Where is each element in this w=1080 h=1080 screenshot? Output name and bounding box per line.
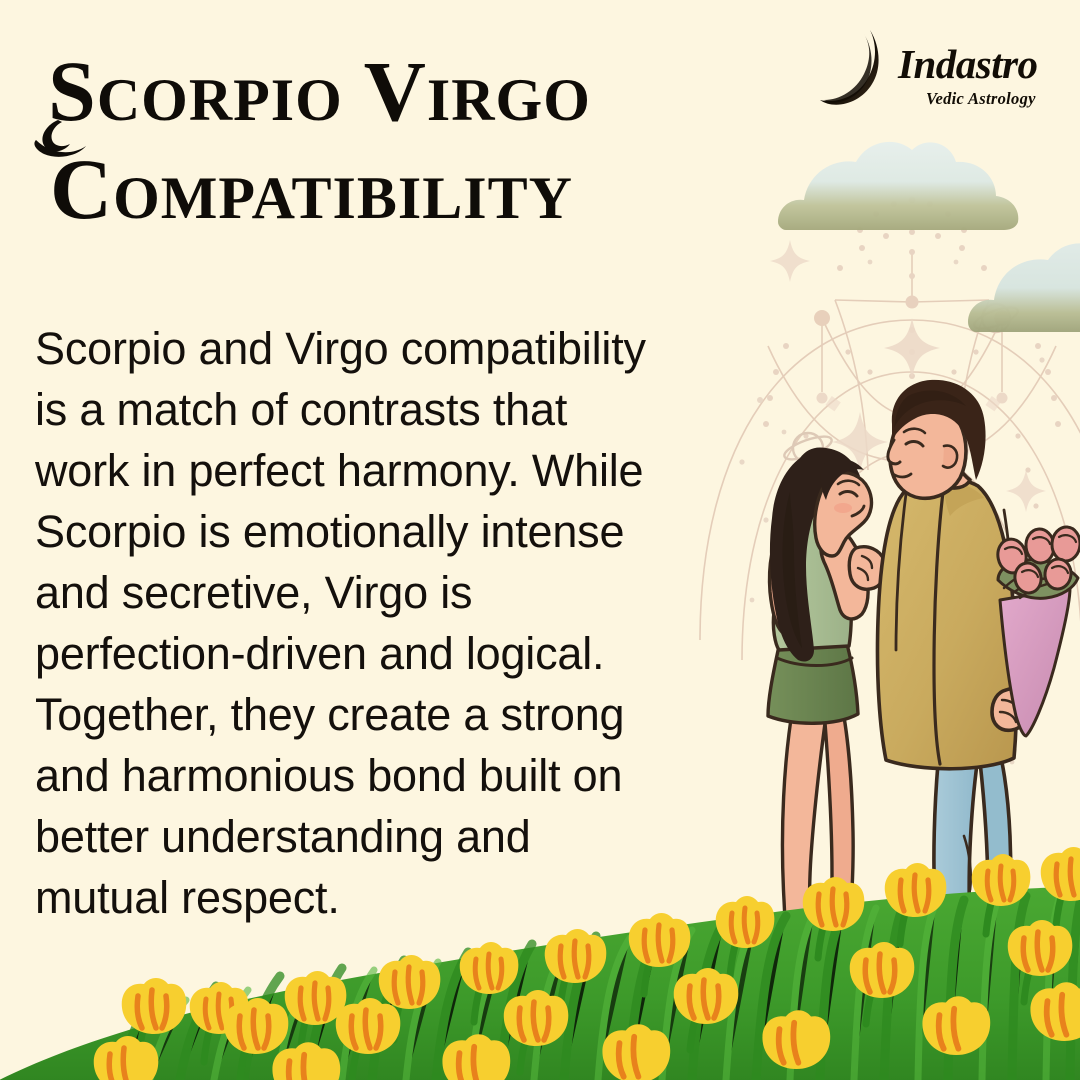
body-line: Scorpio is emotionally intense (35, 501, 715, 562)
body-paragraph: Scorpio and Virgo compatibility is a mat… (35, 318, 715, 928)
page-title-artwork: Scorpio Virgo Compatibility (28, 22, 718, 252)
celestial-mandala (700, 254, 1080, 690)
brand-tagline: Vedic Astrology (926, 89, 1038, 109)
cloud-shape-left (778, 142, 1018, 230)
brand-name: Indastro (898, 44, 1038, 84)
page-title: Scorpio Virgo Compatibility (28, 22, 728, 252)
body-line: is a match of contrasts that (35, 379, 715, 440)
crescent-moon-icon (818, 28, 890, 108)
figure-man (877, 380, 1028, 986)
body-line: and harmonious bond built on (35, 745, 715, 806)
star-dots (739, 260, 1058, 815)
saturn-planet-icon (782, 432, 834, 464)
page-title-line1: Scorpio Virgo (48, 43, 591, 139)
body-line: perfection-driven and logical. (35, 623, 715, 684)
figure-woman (768, 447, 886, 986)
bouquet (995, 526, 1080, 736)
body-line: Together, they create a strong (35, 684, 715, 745)
sparkle-icons (770, 240, 1046, 709)
body-line: mutual respect. (35, 867, 715, 928)
saturn-planet-icon-2 (972, 303, 1020, 333)
brand-logo[interactable]: Indastro Vedic Astrology (818, 26, 1066, 118)
body-line: Scorpio and Virgo compatibility (35, 318, 715, 379)
body-line: work in perfect harmony. While (35, 440, 715, 501)
cloud-shape-right (968, 243, 1080, 332)
page-title-line2: Compatibility (50, 141, 573, 237)
body-line: and secretive, Virgo is (35, 562, 715, 623)
poster-canvas: Scorpio Virgo Compatibility Indastro Ved… (0, 0, 1080, 1080)
mandala-dots (763, 197, 1061, 509)
body-line: better understanding and (35, 806, 715, 867)
